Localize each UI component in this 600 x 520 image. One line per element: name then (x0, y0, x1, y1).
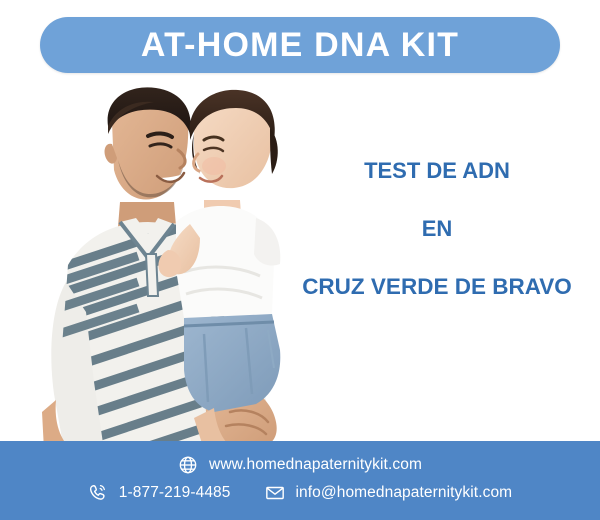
email-text: info@homednapaternitykit.com (296, 484, 513, 502)
phone-icon (88, 483, 108, 503)
poster-canvas: AT-HOME DNA KIT (0, 0, 600, 520)
father-and-child-illustration (8, 82, 328, 450)
footer-row-contact: 1-877-219-4485 info@homednapaternitykit.… (0, 483, 600, 503)
envelope-icon (265, 483, 285, 503)
phone-text: 1-877-219-4485 (119, 484, 231, 502)
globe-icon (178, 455, 198, 475)
father-and-child-photo (8, 82, 328, 450)
headline-line-2: EN (287, 218, 587, 240)
footer-bar: www.homednapaternitykit.com 1-877-219-44… (0, 441, 600, 520)
headline-line-1: TEST DE ADN (287, 160, 587, 182)
page-title: AT-HOME DNA KIT (141, 28, 459, 62)
website-item[interactable]: www.homednapaternitykit.com (178, 455, 422, 475)
footer-notch (0, 441, 310, 451)
phone-item[interactable]: 1-877-219-4485 (88, 483, 231, 503)
headline-line-3: CRUZ VERDE DE BRAVO (287, 276, 587, 299)
header-banner: AT-HOME DNA KIT (40, 17, 560, 73)
email-item[interactable]: info@homednapaternitykit.com (265, 483, 513, 503)
footer-row-website: www.homednapaternitykit.com (0, 455, 600, 475)
headline-block: TEST DE ADN EN CRUZ VERDE DE BRAVO (287, 160, 587, 299)
website-text: www.homednapaternitykit.com (209, 456, 422, 474)
